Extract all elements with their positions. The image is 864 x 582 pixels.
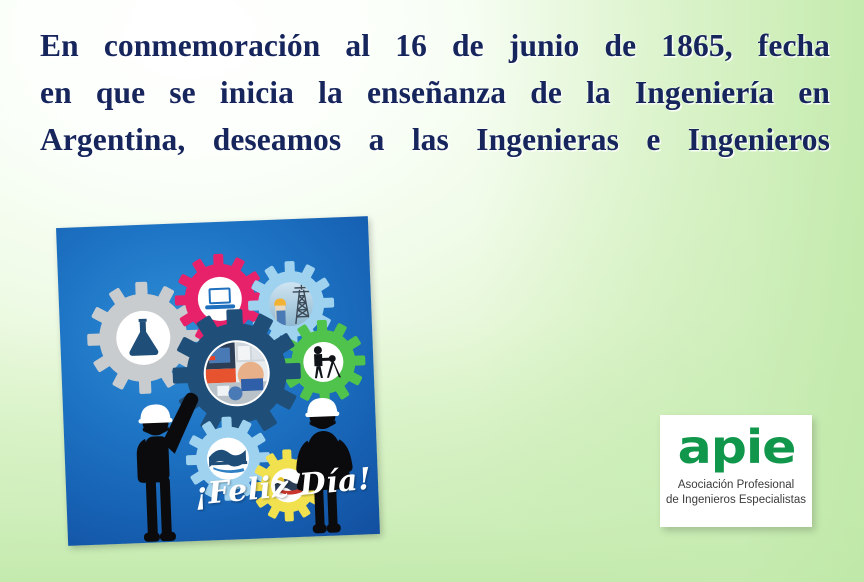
- greeting-card: En conmemoración al 16 de junio de 1865,…: [0, 0, 864, 582]
- logo-tagline-line-2: de Ingenieros Especialistas: [666, 493, 806, 508]
- hard-hat-icon: [305, 397, 340, 417]
- apie-logo[interactable]: apie Asociación Profesional de Ingeniero…: [660, 415, 812, 527]
- headline-line-2: en que se inicia la enseñanza de la Inge…: [40, 69, 830, 116]
- page-title: En conmemoración al 16 de junio de 1865,…: [40, 22, 830, 163]
- logo-wordmark: apie: [677, 422, 795, 472]
- headline-line-1: En conmemoración al 16 de junio de 1865,…: [40, 22, 830, 69]
- logo-tagline-line-1: Asociación Profesional: [678, 478, 794, 493]
- engineering-illustration: ¡Feliz Día!: [56, 216, 380, 546]
- hard-hat-icon: [138, 404, 173, 424]
- headline-line-3: Argentina, deseamos a las Ingenieras e I…: [40, 116, 830, 163]
- illustration-content: ¡Feliz Día!: [56, 216, 380, 546]
- engineer-man: [134, 392, 203, 542]
